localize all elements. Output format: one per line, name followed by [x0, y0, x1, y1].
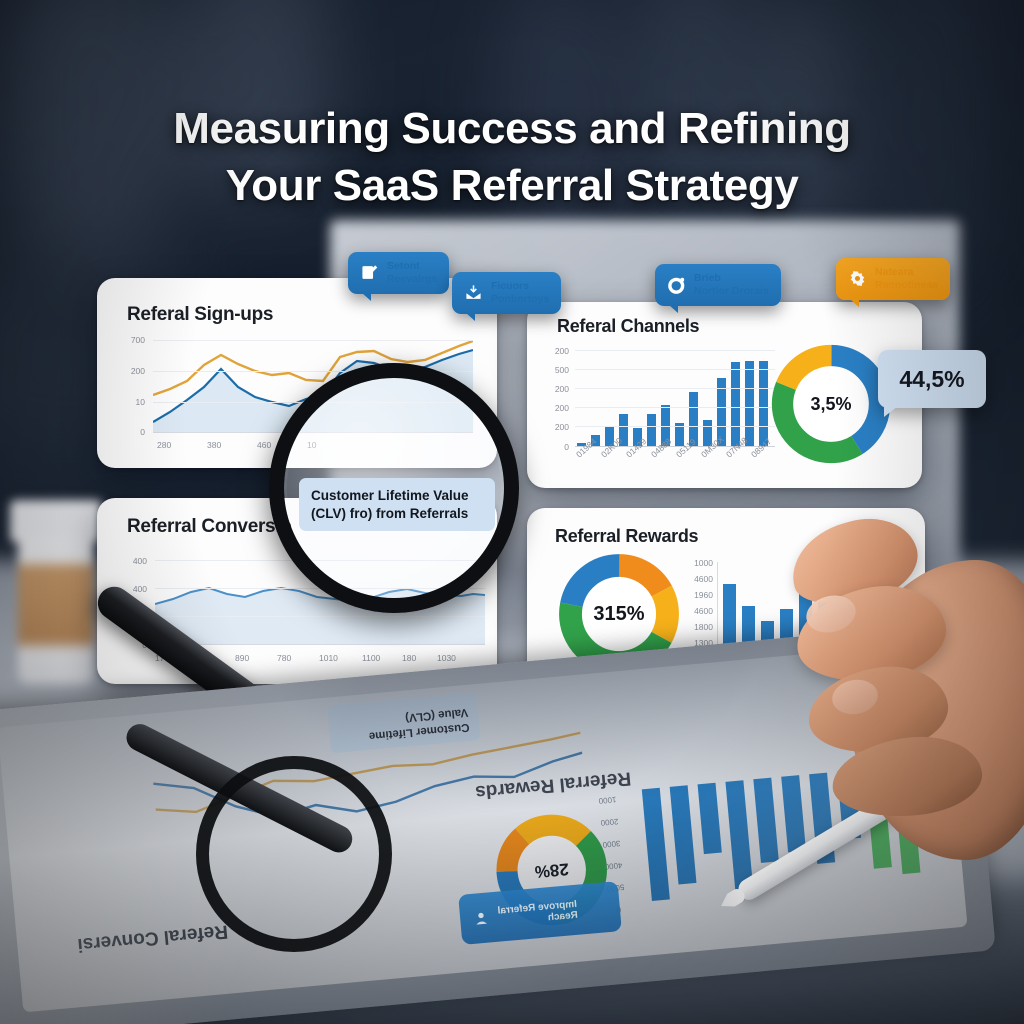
channels-y-tick-3: 200: [543, 403, 569, 413]
rewards-y-tick-1: 4600: [681, 574, 713, 584]
rewards-y-tick-4: 1800: [681, 622, 713, 632]
card-referral-channels[interactable]: Referal Channels: [527, 302, 922, 488]
channels-y-tick-2: 200: [543, 384, 569, 394]
channels-bars-svg: [575, 350, 775, 446]
badge-2-line1: Ficuors: [491, 280, 549, 293]
page-title: Measuring Success and Refining Your SaaS…: [0, 100, 1024, 214]
badge-nateara-raonotineaa[interactable]: Nateara Raonotineaa: [836, 258, 950, 300]
card-title-rewards: Referral Rewards: [555, 526, 698, 547]
badge-4-line2: Raonotineaa: [875, 279, 938, 292]
gear-icon: [848, 269, 867, 288]
card-title-signups: Referal Sign-ups: [127, 304, 273, 326]
card-title-channels: Referal Channels: [557, 316, 699, 337]
channels-bars-plot: [575, 350, 775, 446]
badge-setont-reevalrgs[interactable]: Setont Reevalrgs: [348, 252, 449, 294]
reflected-tick-4: 2000: [600, 817, 619, 828]
badge-1-text: Setont Reevalrgs: [387, 260, 437, 286]
title-line-1: Measuring Success and Refining: [173, 104, 851, 153]
signups-y-tick-0: 700: [119, 335, 145, 345]
badge-4-line1: Nateara: [875, 266, 938, 279]
callout-value: 44,5%: [899, 366, 964, 393]
badge-3-text: Brieb Nortior Drorais: [694, 272, 769, 298]
badge-1-line1: Setont: [387, 260, 437, 273]
reflected-magnifier-ring: [196, 756, 392, 952]
badge-3-line1: Brieb: [694, 272, 769, 285]
clv-label-line2: (CLV) fro) from Referrals: [311, 506, 468, 521]
clv-label-line1: Customer Lifetime Value: [311, 488, 469, 503]
badge-ficuors-ponbnrtoys[interactable]: Ficuors Ponbnrtoys: [452, 272, 561, 314]
rewards-y-tick-3: 4600: [681, 606, 713, 616]
reflected-tick-5: 1000: [598, 795, 617, 806]
coffee-cup: [8, 500, 104, 690]
badge-brieb-nortior-drorais[interactable]: Brieb Nortior Drorais: [655, 264, 781, 306]
badge-2-line2: Ponbnrtoys: [491, 293, 549, 306]
channels-donut[interactable]: 3,5%: [767, 340, 895, 468]
reflected-badge-icon: [471, 908, 491, 928]
channels-y-tick-1: 500: [543, 365, 569, 375]
inbox-download-icon: [464, 283, 483, 302]
badge-2-text: Ficuors Ponbnrtoys: [491, 280, 549, 306]
badge-3-line2: Nortior Drorais: [694, 285, 769, 298]
reflected-clv-line1: Customer Lifetime: [368, 721, 470, 742]
callout-conversion-rate[interactable]: 44,5%: [878, 350, 986, 408]
magnifier-clv-label: Customer Lifetime Value (CLV) fro) from …: [299, 478, 495, 531]
channels-donut-center-label: 3,5%: [767, 340, 895, 468]
reflected-conversions-title: Referal Conversi: [76, 920, 228, 956]
rewards-y-tick-0: 1000: [681, 558, 713, 568]
badge-1-line2: Reevalrgs: [387, 273, 437, 286]
edit-note-icon: [360, 263, 379, 282]
channels-y-tick-5: 0: [543, 442, 569, 452]
reflected-tick-2: 4000: [604, 861, 623, 872]
rewards-y-tick-2: 1960: [681, 590, 713, 600]
badge-4-text: Nateara Raonotineaa: [875, 266, 938, 292]
channels-y-tick-0: 200: [543, 346, 569, 356]
donut-chart-icon: [667, 275, 686, 294]
title-line-2: Your SaaS Referral Strategy: [80, 157, 944, 214]
channels-y-tick-4: 200: [543, 422, 569, 432]
reflected-badge-text: Improve Referral Reach: [497, 899, 578, 928]
reflected-tick-3: 3000: [602, 839, 621, 850]
hand-holding-stylus: [780, 500, 1024, 920]
